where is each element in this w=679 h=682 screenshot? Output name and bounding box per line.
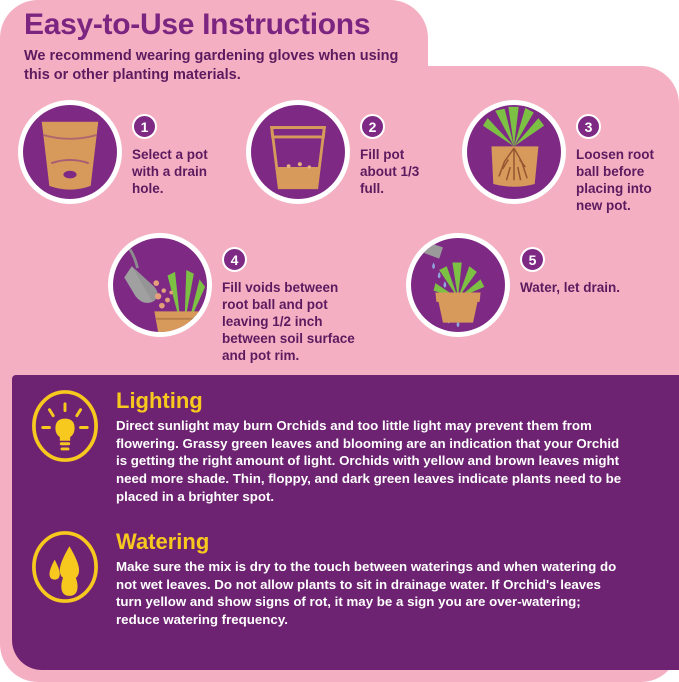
care-info-panel: Lighting Direct sunlight may burn Orchid…	[12, 375, 679, 670]
info-section-lighting: Lighting Direct sunlight may burn Orchid…	[28, 389, 668, 505]
step-4-text: 4 Fill voids between root ball and pot l…	[222, 233, 355, 364]
step-item-1: 1 Select a pot with a drain hole.	[18, 100, 208, 204]
watering-text: Make sure the mix is dry to the touch be…	[116, 558, 624, 629]
watering-title: Watering	[116, 530, 624, 553]
step-5-caption: Water, let drain.	[520, 279, 620, 296]
plant-root-ball-icon	[467, 105, 561, 199]
info-section-watering: Watering Make sure the mix is dry to the…	[28, 530, 668, 629]
step-3-caption: Loosen root ball before placing into new…	[576, 146, 654, 214]
lighting-text: Direct sunlight may burn Orchids and too…	[116, 417, 624, 505]
trowel-filling-soil-icon	[113, 238, 207, 332]
step-3-text: 3 Loosen root ball before placing into n…	[576, 100, 654, 214]
step-3-badge: 3	[576, 114, 601, 139]
step-item-3: 3 Loosen root ball before placing into n…	[462, 100, 654, 214]
step-4-illustration	[108, 233, 212, 337]
step-2-caption: Fill pot about 1/3 full.	[360, 146, 419, 197]
step-4-caption: Fill voids between root ball and pot lea…	[222, 279, 355, 364]
water-drop-icon	[28, 530, 102, 604]
step-5-illustration	[406, 233, 510, 337]
step-5-badge: 5	[520, 247, 545, 272]
step-1-illustration	[18, 100, 122, 204]
header: Easy-to-Use Instructions We recommend we…	[24, 8, 424, 84]
step-item-2: 2 Fill pot about 1/3 full.	[246, 100, 419, 204]
step-3-illustration	[462, 100, 566, 204]
instructions-card: Easy-to-Use Instructions We recommend we…	[0, 0, 679, 682]
watering-body: Watering Make sure the mix is dry to the…	[116, 530, 624, 629]
step-1-caption: Select a pot with a drain hole.	[132, 146, 208, 197]
step-4-badge: 4	[222, 247, 247, 272]
step-item-5: 5 Water, let drain.	[406, 233, 620, 337]
step-2-illustration	[246, 100, 350, 204]
step-2-text: 2 Fill pot about 1/3 full.	[360, 100, 419, 197]
step-1-text: 1 Select a pot with a drain hole.	[132, 100, 208, 197]
watering-potted-plant-icon	[411, 238, 505, 332]
step-2-badge: 2	[360, 114, 385, 139]
step-1-badge: 1	[132, 114, 157, 139]
pot-with-drain-hole-icon	[23, 105, 117, 199]
step-item-4: 4 Fill voids between root ball and pot l…	[108, 233, 355, 364]
pot-filled-one-third-icon	[251, 105, 345, 199]
lightbulb-icon	[28, 389, 102, 463]
header-subtitle: We recommend wearing gardening gloves wh…	[24, 47, 424, 84]
page-title: Easy-to-Use Instructions	[24, 8, 424, 41]
lighting-title: Lighting	[116, 389, 624, 412]
step-5-text: 5 Water, let drain.	[520, 233, 620, 296]
lighting-body: Lighting Direct sunlight may burn Orchid…	[116, 389, 624, 505]
